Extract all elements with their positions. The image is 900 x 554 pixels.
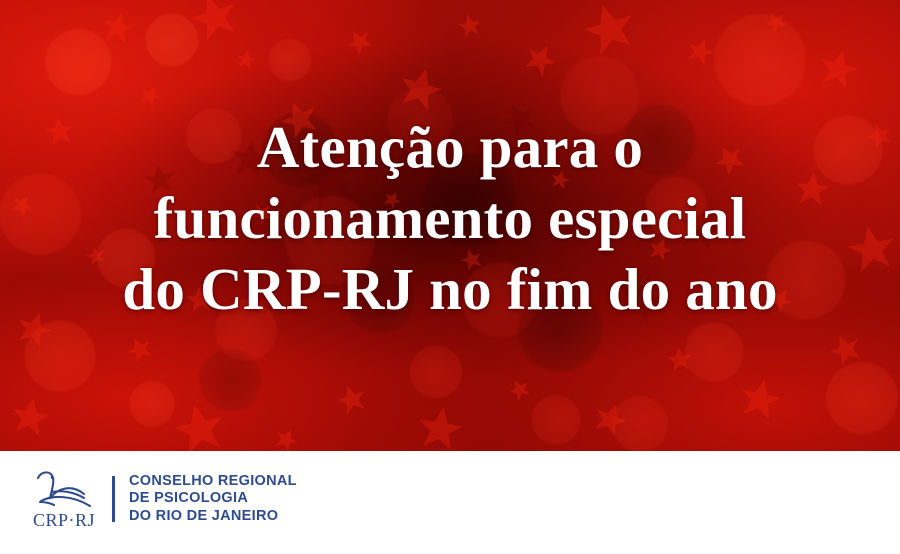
crp-rj-wordmark: CRP·RJ: [28, 510, 100, 531]
crp-rj-announcement-banner: Atenção para o funcionamento especial do…: [0, 0, 900, 554]
org-line-3: DO RIO DE JANEIRO: [129, 508, 297, 526]
footer-bar: CRP·RJ CONSELHO REGIONAL DE PSICOLOGIA D…: [0, 451, 900, 554]
logo-divider: [112, 476, 115, 522]
organization-name: CONSELHO REGIONAL DE PSICOLOGIA DO RIO D…: [129, 473, 297, 526]
org-line-1: CONSELHO REGIONAL: [129, 473, 297, 491]
crp-rj-bird-wing-icon: CRP·RJ: [28, 468, 100, 530]
headline-text: Atenção para o funcionamento especial do…: [0, 112, 900, 325]
crp-rj-logo[interactable]: CRP·RJ CONSELHO REGIONAL DE PSICOLOGIA D…: [28, 468, 297, 530]
hero-section: Atenção para o funcionamento especial do…: [0, 0, 900, 451]
bird-wing-mark: [28, 468, 100, 512]
org-line-2: DE PSICOLOGIA: [129, 490, 297, 508]
